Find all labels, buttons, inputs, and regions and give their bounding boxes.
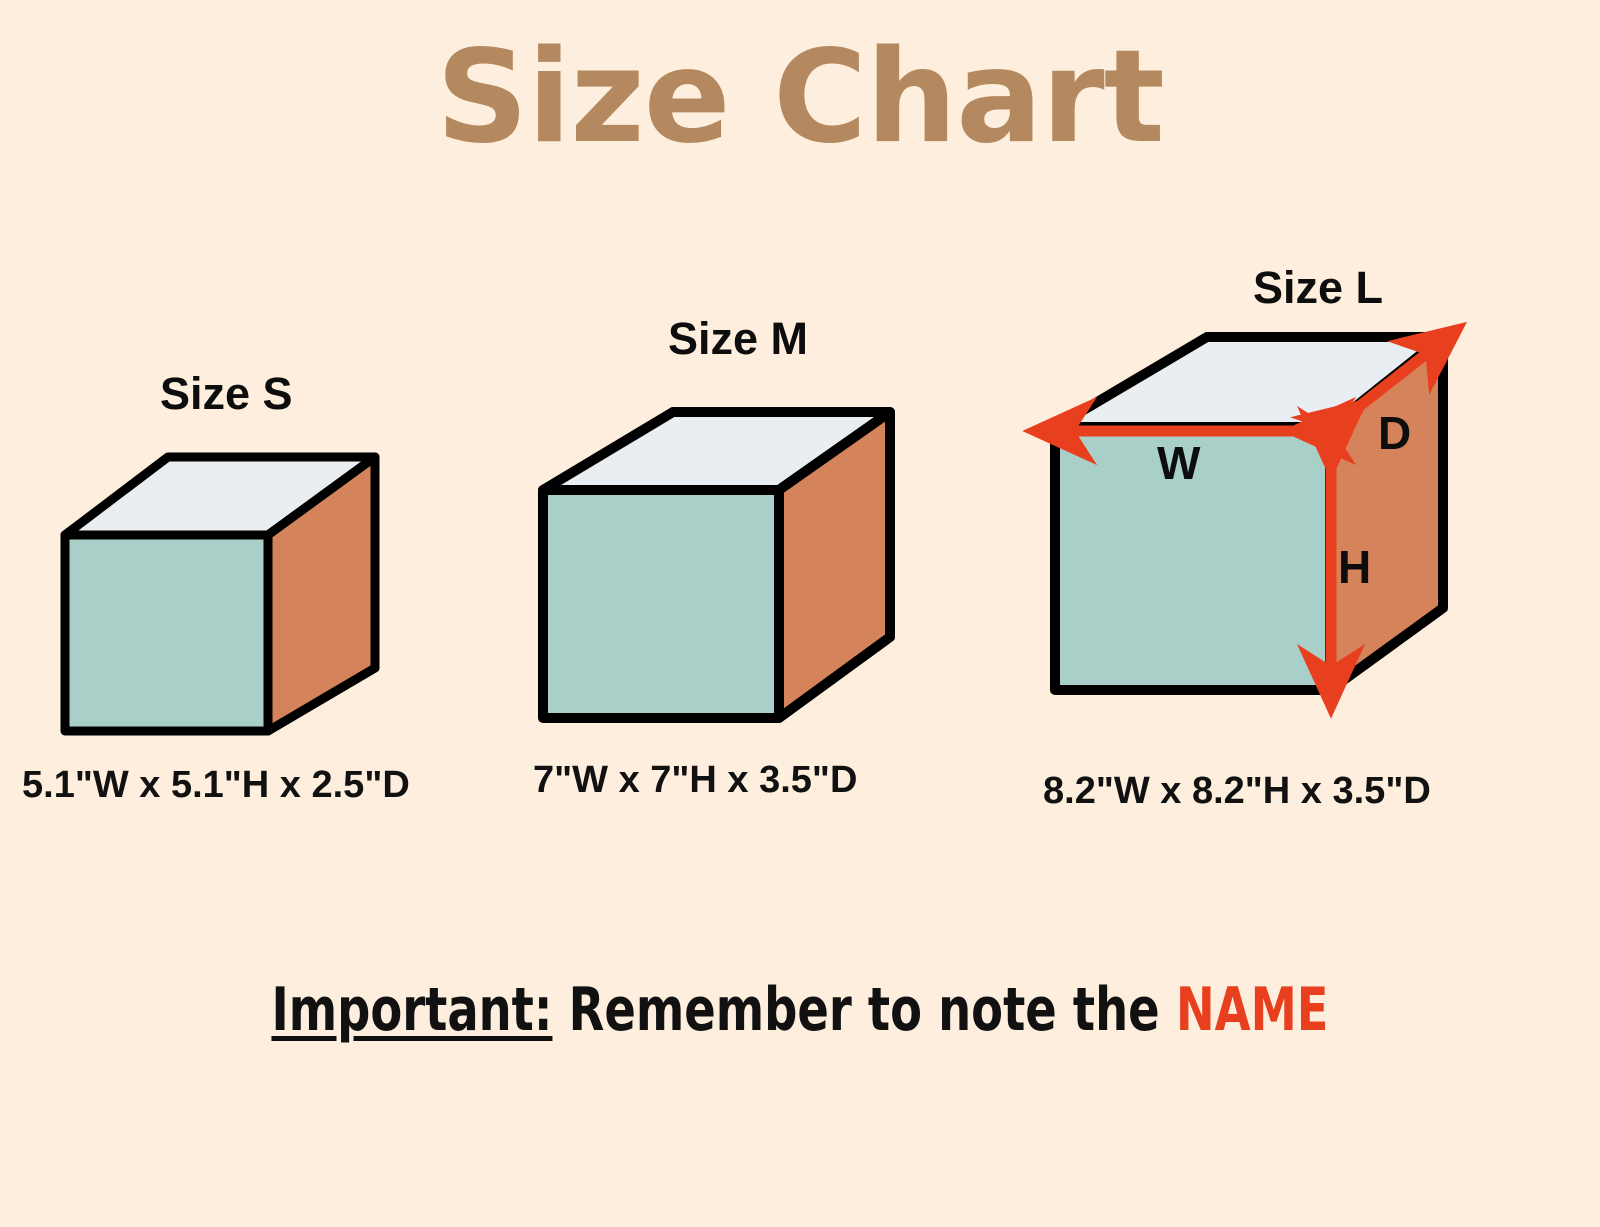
size-chart-page: Size Chart [0,0,1600,1227]
box-size-m-front-face [543,490,779,718]
footer-emphasis: Important: [271,975,552,1045]
height-marker-label: H [1338,542,1371,592]
box-label-size-l: Size L [1253,262,1383,314]
box-label-size-m: Size M [668,313,808,365]
box-dimensions-size-m: 7"W x 7"H x 3.5"D [533,757,857,803]
box-size-s-front-face [65,535,268,731]
box-size-l [1055,337,1443,690]
box-label-size-s: Size S [160,368,293,420]
footer-note: Important: Remember to note the NAME [112,975,1488,1045]
box-size-m [543,412,890,718]
width-marker-label: W [1157,438,1200,488]
box-dimensions-size-l: 8.2"W x 8.2"H x 3.5"D [1043,768,1431,814]
box-dimensions-size-s: 5.1"W x 5.1"H x 2.5"D [22,762,410,808]
footer-accent: NAME [1176,975,1329,1045]
box-size-s [65,457,375,731]
depth-marker-label: D [1378,408,1411,458]
footer-message: Remember to note the [552,975,1175,1045]
